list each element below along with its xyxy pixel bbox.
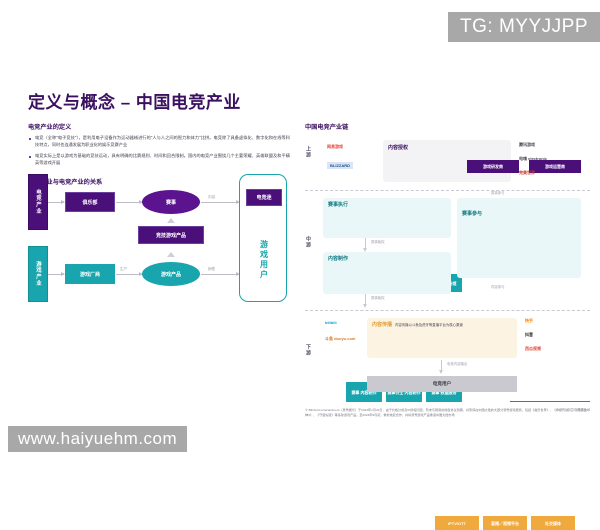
arrow-label-content: 内容	[208, 195, 215, 200]
tier-label-midstream: 中游	[305, 236, 312, 248]
node-competitive-product: 竞技游戏产品	[138, 226, 204, 244]
upstream-panel-heading: 内容授权	[388, 144, 511, 151]
arrow-publisher-to-product	[116, 274, 142, 275]
list-item: 电竞实际上是以游戏为基础的竞技运动，具有明确的比赛规则、时间和回合限制。国内的电…	[28, 153, 290, 167]
arrow-production-to-downstream	[365, 294, 366, 304]
arrow-to-users	[441, 360, 442, 370]
logo-blizzard: BLIZZARD	[327, 162, 353, 169]
node-esports-fan: 电竞迷	[246, 189, 282, 206]
downstream-final-users: 电竞用户	[367, 376, 517, 392]
production-heading: 内容制作	[328, 255, 451, 262]
downstream-panel: 内容传播 内容传播以斗鱼及虎牙等直播平台为核心渠道 IPTV/OTT 直播／视频…	[367, 318, 517, 358]
industry-chain: 上游 中游 下游 内容授权 游戏研发商 游戏运营商 网易游戏 BLIZZARD …	[305, 138, 590, 408]
right-column: 中国电竞产业链	[305, 122, 590, 136]
execution-heading: 赛事执行	[328, 201, 451, 208]
tier-label-upstream: 上游	[305, 146, 312, 158]
downstream-panel-note: 内容传播以斗鱼及虎牙等直播平台为核心渠道	[395, 322, 463, 327]
slide: 定义与概念 – 中国电竞产业 电竞产业的定义 电竞（全称"电子竞技"），是利用电…	[0, 60, 600, 420]
arrow-label-produce: 生产	[120, 267, 127, 272]
page-footer: PwP｜中国电竞行业 4	[556, 407, 590, 412]
industry-label-game: 游戏产业	[28, 246, 48, 302]
page-title: 定义与概念 – 中国电竞产业	[28, 88, 241, 113]
node-club: 俱乐部	[65, 192, 115, 212]
arrow-esports-to-club	[48, 202, 64, 203]
downstream-panel-heading: 内容传播	[372, 321, 392, 328]
logo-perfect-world: 完美世界	[519, 170, 535, 176]
node-game-product: 游戏产品	[142, 262, 200, 286]
node-event: 赛事	[142, 190, 200, 214]
participation-heading: 赛事参与	[462, 210, 581, 217]
label-content-output: 电竞内容输出	[447, 361, 467, 366]
list-item: 电竞（全称"电子竞技"），是利用电子设备作为运动器械进行的"人与人之间的智力和体…	[28, 135, 290, 149]
participation-panel: 赛事参与 俱乐部 母公司 MCN/ 工会 职业 选手 战队 俱乐部 主播 解说 …	[457, 198, 581, 278]
arrow-label-sell: 销售	[208, 267, 215, 272]
relationship-diagram: 电竞产业 游戏产业 俱乐部 游戏厂商 生产 赛事 游戏产品 竞技游戏产品 内容 …	[28, 168, 290, 308]
arrow-up-to-event	[167, 218, 175, 223]
label-content-participation: 内容参与	[491, 284, 505, 289]
user-container: 电竞迷 游戏用户	[239, 174, 287, 302]
label-event-copyright: 赛事版权	[371, 239, 385, 244]
chain-heading: 中国电竞产业链	[305, 122, 590, 131]
logo-kuaishou: 快手	[525, 318, 533, 324]
execution-panel: 赛事执行 电竞赛事 服务方 电竞赛事 主办方 电竞赛事 场馆	[323, 198, 451, 238]
logo-tencent-games: 腾讯游戏	[519, 142, 535, 148]
definition-heading: 电竞产业的定义	[28, 122, 290, 131]
tier-label-downstream: 下游	[305, 344, 312, 356]
watermark-bottom: www.haiyuehm.com	[8, 426, 187, 452]
arrow-game-to-publisher	[48, 274, 64, 275]
arrow-product-to-user	[201, 274, 239, 275]
logo-netease: 网易游戏	[327, 144, 343, 150]
upstream-box-developer: 游戏研发商	[467, 160, 519, 173]
logo-bilibili: bilibili	[325, 320, 337, 325]
logo-douyin: 抖音	[525, 332, 533, 338]
downstream-box-live: 直播／视频平台	[483, 516, 527, 530]
arrow-execution-to-production	[365, 238, 366, 248]
arrow-club-to-event	[116, 202, 142, 203]
arrow-up-to-competitive	[167, 252, 175, 257]
label-event-participation: 赛事参与	[491, 190, 505, 195]
logo-dianhun: 电魂 electronic	[519, 156, 547, 162]
production-panel: 内容制作 赛事 内容制作 赛事衍生 内容制作 赛事 数据服务	[323, 252, 451, 294]
downstream-box-social: 社交媒体	[531, 516, 575, 530]
logo-xigua: 西瓜视频	[525, 346, 541, 352]
industry-label-esports: 电竞产业	[28, 174, 48, 230]
watermark-top: TG: MYYJJPP	[448, 12, 600, 42]
downstream-box-iptv: IPTV/OTT	[435, 516, 479, 530]
divider-midstream	[305, 310, 590, 311]
footnote: ① Blizzard entertainment（暴雪娱乐）于2023年1月23…	[305, 408, 590, 418]
label-content-copyright: 赛事版权	[371, 295, 385, 300]
node-game-user: 游戏用户	[240, 223, 288, 297]
arrow-event-to-fan	[201, 202, 239, 203]
page-footer-rule	[510, 401, 590, 402]
definition-bullets: 电竞（全称"电子竞技"），是利用电子设备作为运动器械进行的"人与人之间的智力和体…	[28, 135, 290, 167]
upstream-panel: 内容授权 游戏研发商 游戏运营商	[383, 140, 511, 182]
node-game-publisher: 游戏厂商	[65, 264, 115, 284]
divider-upstream	[305, 190, 590, 191]
logo-douyu: 斗鱼 douyu.com	[325, 336, 355, 342]
